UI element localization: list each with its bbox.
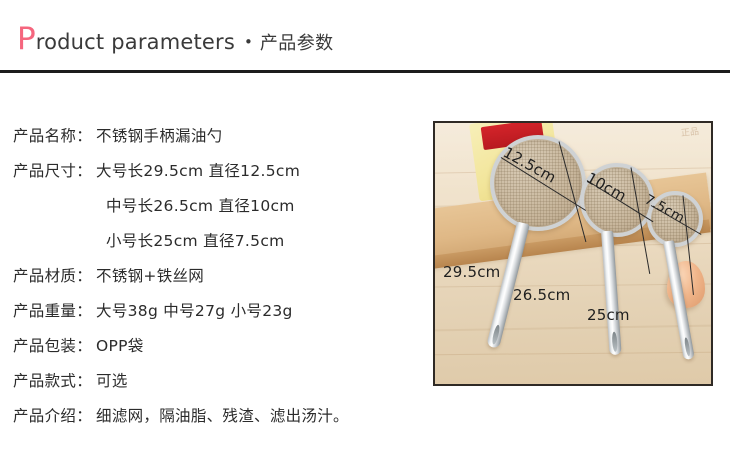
- measure-label-length-medium: 26.5cm: [513, 286, 570, 304]
- spec-label: 产品款式：: [13, 369, 92, 391]
- spec-label: 产品包装：: [13, 334, 92, 356]
- title-text-en: roduct parameters: [36, 32, 235, 53]
- spec-value: 不锈钢+铁丝网: [92, 264, 204, 286]
- product-photo: 12.5cm 10cm 7.5cm 29.5cm 26.5cm 25cm 正品: [433, 121, 713, 386]
- bullet-separator-icon: •: [235, 35, 260, 50]
- spec-value: 不锈钢手柄漏油勺: [92, 124, 222, 146]
- header-divider: [0, 70, 730, 73]
- spec-row-material: 产品材质： 不锈钢+铁丝网: [13, 264, 413, 299]
- spec-row-description: 产品介绍： 细滤网，隔油脂、残渣、滤出汤汁。: [13, 404, 413, 439]
- spec-value: 大号长29.5cm 直径12.5cm: [92, 159, 300, 181]
- measure-label-length-small: 25cm: [587, 306, 630, 324]
- spec-label: 产品重量：: [13, 299, 92, 321]
- spec-value: 可选: [92, 369, 128, 391]
- spec-value: 大号38g 中号27g 小号23g: [92, 299, 293, 321]
- spec-row-packaging: 产品包装： OPP袋: [13, 334, 413, 369]
- section-header: P roduct parameters • 产品参数: [0, 24, 730, 74]
- wood-grain-line: [433, 324, 713, 332]
- strainer-handle: [601, 231, 622, 356]
- spec-label: 产品尺寸：: [13, 159, 92, 181]
- photo-background: 12.5cm 10cm 7.5cm 29.5cm 26.5cm 25cm 正品: [435, 123, 711, 384]
- spec-value: 细滤网，隔油脂、残渣、滤出汤汁。: [92, 404, 349, 426]
- wood-grain-line: [433, 351, 713, 355]
- handle-tip: [612, 332, 618, 352]
- handle-tip: [491, 324, 501, 345]
- watermark: 正品: [677, 128, 706, 157]
- spec-row-size: 产品尺寸： 大号长29.5cm 直径12.5cm: [13, 159, 413, 194]
- title-text-cn: 产品参数: [260, 35, 334, 53]
- handle-tip: [683, 337, 691, 357]
- spec-row-size-small: 小号长25cm 直径7.5cm: [13, 229, 413, 264]
- spec-list: 产品名称： 不锈钢手柄漏油勺 产品尺寸： 大号长29.5cm 直径12.5cm …: [13, 124, 413, 439]
- spec-value: 小号长25cm 直径7.5cm: [13, 229, 285, 251]
- spec-label: 产品材质：: [13, 264, 92, 286]
- product-parameters-page: P roduct parameters • 产品参数 产品名称： 不锈钢手柄漏油…: [0, 0, 730, 471]
- spec-value: OPP袋: [92, 334, 144, 356]
- measure-label-length-large: 29.5cm: [443, 263, 500, 281]
- spec-value: 中号长26.5cm 直径10cm: [13, 194, 295, 216]
- spec-row-style: 产品款式： 可选: [13, 369, 413, 404]
- spec-label: 产品介绍：: [13, 404, 92, 426]
- page-title: P roduct parameters • 产品参数: [17, 24, 334, 66]
- spec-row-size-medium: 中号长26.5cm 直径10cm: [13, 194, 413, 229]
- title-initial-letter: P: [17, 24, 36, 55]
- spec-label: 产品名称：: [13, 124, 92, 146]
- spec-row-name: 产品名称： 不锈钢手柄漏油勺: [13, 124, 413, 159]
- spec-row-weight: 产品重量： 大号38g 中号27g 小号23g: [13, 299, 413, 334]
